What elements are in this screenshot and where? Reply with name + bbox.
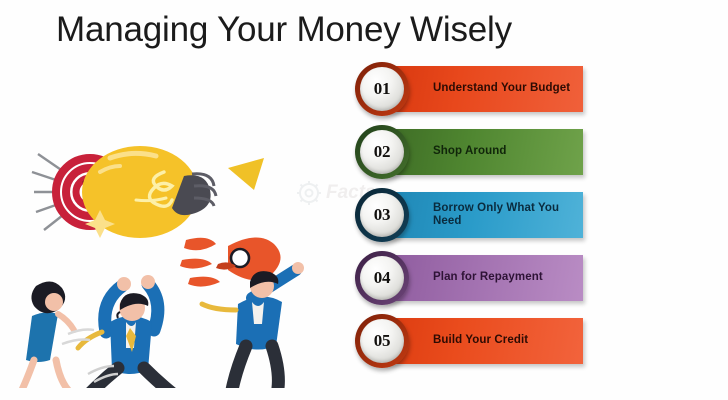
step-label-03: Borrow Only What You Need bbox=[433, 202, 575, 229]
page-title: Managing Your Money Wisely bbox=[56, 8, 512, 52]
step-bar-04[interactable]: Plan for Repayment bbox=[383, 255, 583, 301]
step-bar-05[interactable]: Build Your Credit bbox=[383, 318, 583, 364]
step-number-04: 04 bbox=[374, 268, 390, 288]
step-label-01: Understand Your Budget bbox=[433, 82, 570, 96]
step-badge-01[interactable]: 01 bbox=[355, 62, 409, 116]
step-badge-inner-02: 02 bbox=[360, 130, 404, 174]
step-number-01: 01 bbox=[374, 79, 390, 99]
step-number-02: 02 bbox=[374, 142, 390, 162]
step-item-05[interactable]: Build Your Credit 05 bbox=[355, 318, 583, 364]
step-label-02: Shop Around bbox=[433, 145, 507, 159]
step-bar-03[interactable]: Borrow Only What You Need bbox=[383, 192, 583, 238]
step-item-04[interactable]: Plan for Repayment 04 bbox=[355, 255, 583, 301]
step-badge-05[interactable]: 05 bbox=[355, 314, 409, 368]
step-badge-inner-01: 01 bbox=[360, 67, 404, 111]
step-badge-04[interactable]: 04 bbox=[355, 251, 409, 305]
step-badge-inner-04: 04 bbox=[360, 256, 404, 300]
slide-canvas: Managing Your Money Wisely bbox=[0, 0, 728, 400]
steps-list: Understand Your Budget 01 Shop Around 02… bbox=[355, 66, 595, 376]
step-label-05: Build Your Credit bbox=[433, 334, 528, 348]
step-badge-03[interactable]: 03 bbox=[355, 188, 409, 242]
step-number-03: 03 bbox=[374, 205, 390, 225]
step-item-01[interactable]: Understand Your Budget 01 bbox=[355, 66, 583, 112]
step-bar-01[interactable]: Understand Your Budget bbox=[383, 66, 583, 112]
step-badge-inner-03: 03 bbox=[360, 193, 404, 237]
megaphone bbox=[228, 158, 264, 190]
step-label-04: Plan for Repayment bbox=[433, 271, 543, 285]
people-carrying-lightbulb-illustration bbox=[14, 136, 334, 388]
step-number-05: 05 bbox=[374, 331, 390, 351]
running-woman bbox=[14, 281, 84, 388]
running-man-with-lightbulb bbox=[62, 275, 190, 388]
lightbulb bbox=[82, 146, 216, 238]
step-bar-02[interactable]: Shop Around bbox=[383, 129, 583, 175]
step-badge-02[interactable]: 02 bbox=[355, 125, 409, 179]
step-badge-inner-05: 05 bbox=[360, 319, 404, 363]
step-item-02[interactable]: Shop Around 02 bbox=[355, 129, 583, 175]
step-item-03[interactable]: Borrow Only What You Need 03 bbox=[355, 192, 583, 238]
